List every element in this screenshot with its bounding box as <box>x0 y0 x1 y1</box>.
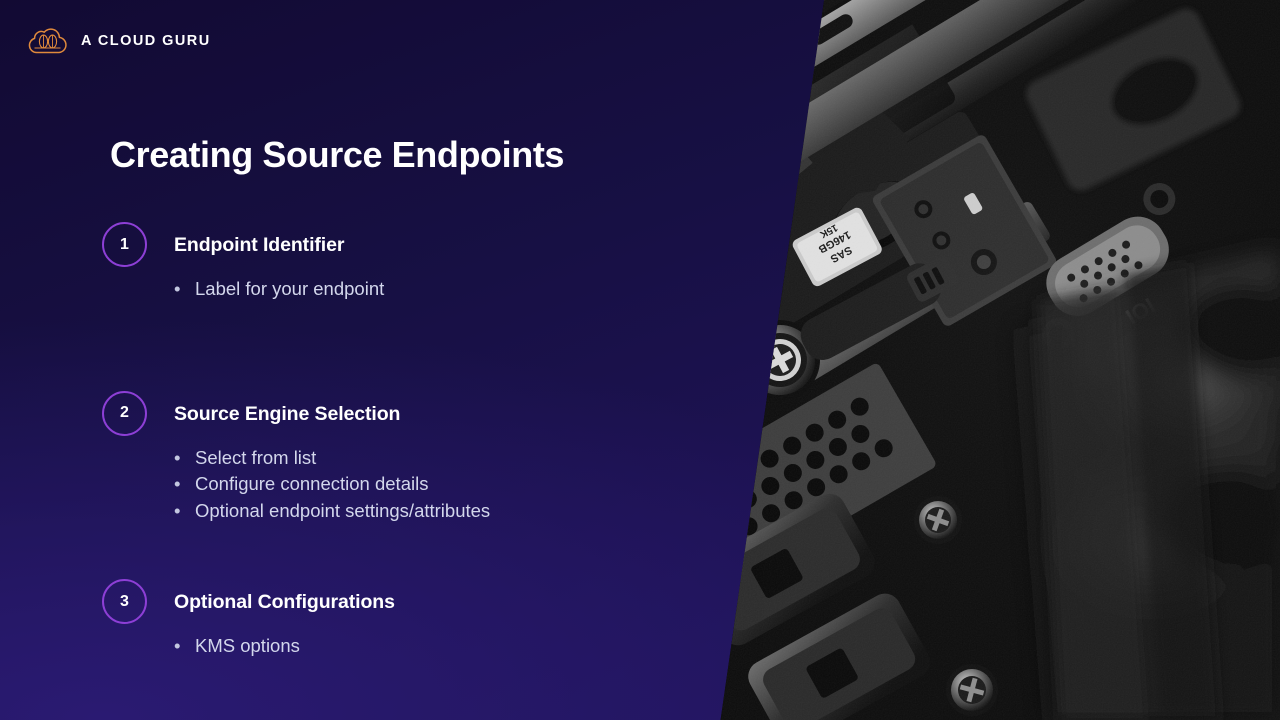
server-rack-illustration: SAS 146GB 15K <box>720 0 1280 720</box>
bullet-item: Label for your endpoint <box>174 276 742 303</box>
step-title: Endpoint Identifier <box>147 222 344 256</box>
step-item-2: 2 Source Engine Selection Select from li… <box>102 391 742 525</box>
bullet-item: Optional endpoint settings/attributes <box>174 498 742 525</box>
step-number-badge: 2 <box>102 391 147 436</box>
step-header: 1 Endpoint Identifier <box>102 222 742 267</box>
step-header: 2 Source Engine Selection <box>102 391 742 436</box>
step-title: Optional Configurations <box>147 579 395 613</box>
cloud-guru-icon <box>25 26 70 56</box>
step-item-3: 3 Optional Configurations KMS options <box>102 579 742 660</box>
cloud-icon-svg <box>25 26 70 56</box>
step-header: 3 Optional Configurations <box>102 579 742 624</box>
bullet-item: KMS options <box>174 633 742 660</box>
steps-list: 1 Endpoint Identifier Label for your end… <box>102 222 742 660</box>
bullet-item: Select from list <box>174 445 742 472</box>
step-bullets: Label for your endpoint <box>174 276 742 303</box>
step-bullets: Select from list Configure connection de… <box>174 445 742 525</box>
page-title: Creating Source Endpoints <box>110 134 564 175</box>
brand-logo: A CLOUD GURU <box>25 26 211 56</box>
brand-name: A CLOUD GURU <box>81 34 211 49</box>
slide-canvas: SAS 146GB 15K <box>0 0 1280 720</box>
server-rack-photo: SAS 146GB 15K <box>720 0 1280 720</box>
step-item-1: 1 Endpoint Identifier Label for your end… <box>102 222 742 303</box>
step-number-badge: 1 <box>102 222 147 267</box>
bullet-item: Configure connection details <box>174 471 742 498</box>
step-bullets: KMS options <box>174 633 742 660</box>
step-number-badge: 3 <box>102 579 147 624</box>
step-title: Source Engine Selection <box>147 391 400 425</box>
